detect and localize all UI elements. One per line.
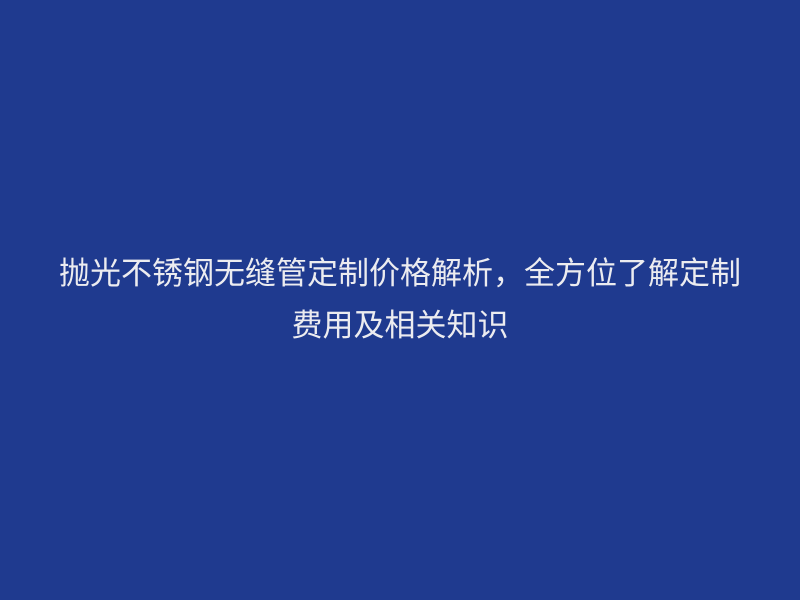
page-title: 抛光不锈钢无缝管定制价格解析，全方位了解定制费用及相关知识: [50, 248, 750, 352]
title-block: 抛光不锈钢无缝管定制价格解析，全方位了解定制费用及相关知识: [0, 0, 800, 600]
banner-canvas: 抛光不锈钢无缝管定制价格解析，全方位了解定制费用及相关知识: [0, 0, 800, 600]
